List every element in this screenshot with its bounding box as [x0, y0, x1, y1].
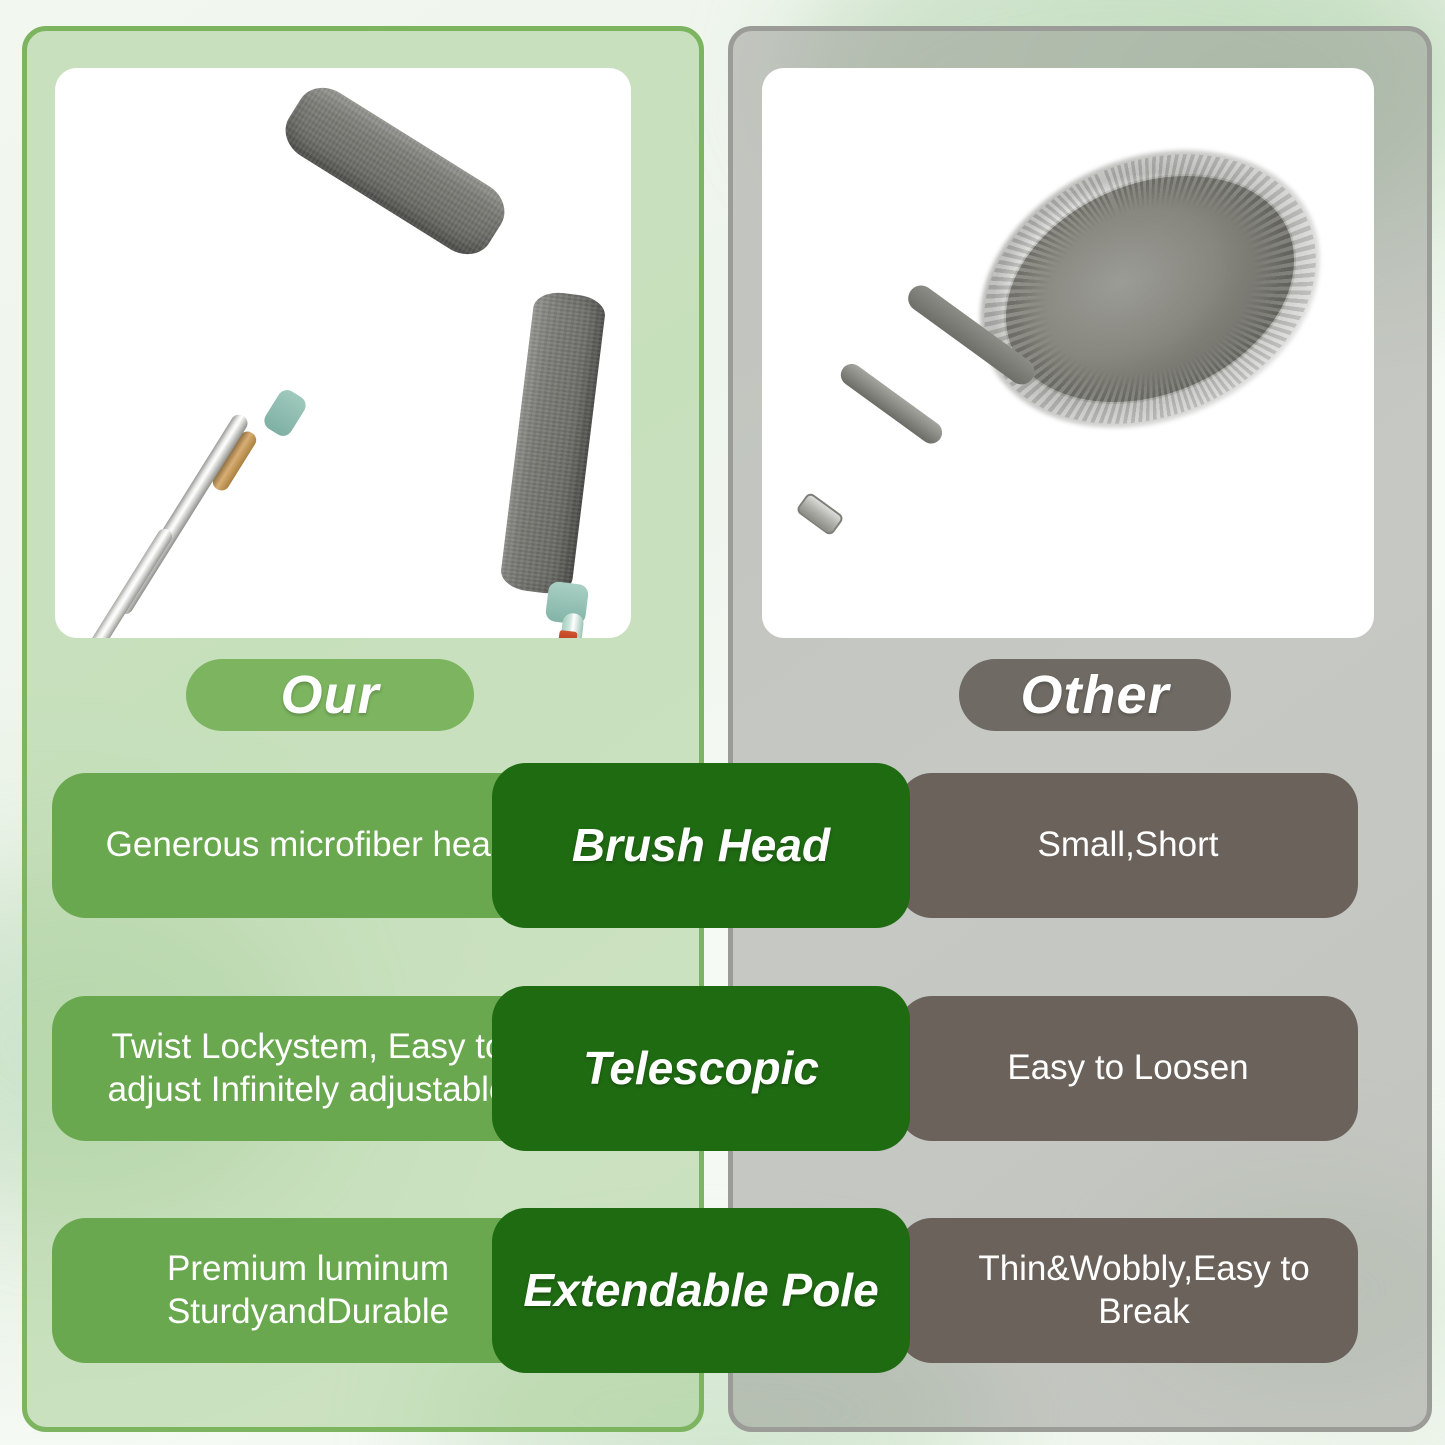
comparison-row: Generous microfiber head Brush Head Smal… [0, 763, 1445, 928]
our-product-photo-card [55, 68, 631, 638]
comparison-row: Premium luminum SturdyandDurable Extenda… [0, 1208, 1445, 1373]
our-feature-text: Generous microfiber head [86, 824, 530, 867]
other-product-photo-card [762, 68, 1374, 638]
our-title-badge: Our [186, 659, 474, 731]
our-product-image [55, 68, 631, 638]
other-feature-value: Small,Short [898, 773, 1358, 918]
other-feature-value: Thin&Wobbly,Easy to Break [898, 1218, 1358, 1363]
comparison-row: Twist Lockystem, Easy to adjust Infinite… [0, 986, 1445, 1151]
other-product-image [762, 68, 1374, 638]
our-feature-value: Twist Lockystem, Easy to adjust Infinite… [52, 996, 560, 1141]
gap-duster-spare-head-icon [485, 283, 631, 638]
infographic-canvas: Our Other Generous microfiber head Brush… [0, 0, 1445, 1445]
our-feature-text: Premium luminum SturdyandDurable [86, 1248, 530, 1333]
feature-label: Brush Head [492, 763, 910, 928]
round-duster-icon [762, 68, 1374, 638]
our-feature-value: Generous microfiber head [52, 773, 560, 918]
our-feature-text: Twist Lockystem, Easy to adjust Infinite… [86, 1026, 530, 1111]
other-feature-value: Easy to Loosen [898, 996, 1358, 1141]
feature-label: Telescopic [492, 986, 910, 1151]
feature-label: Extendable Pole [492, 1208, 910, 1373]
other-title-badge: Other [959, 659, 1231, 731]
our-feature-value: Premium luminum SturdyandDurable [52, 1218, 560, 1363]
